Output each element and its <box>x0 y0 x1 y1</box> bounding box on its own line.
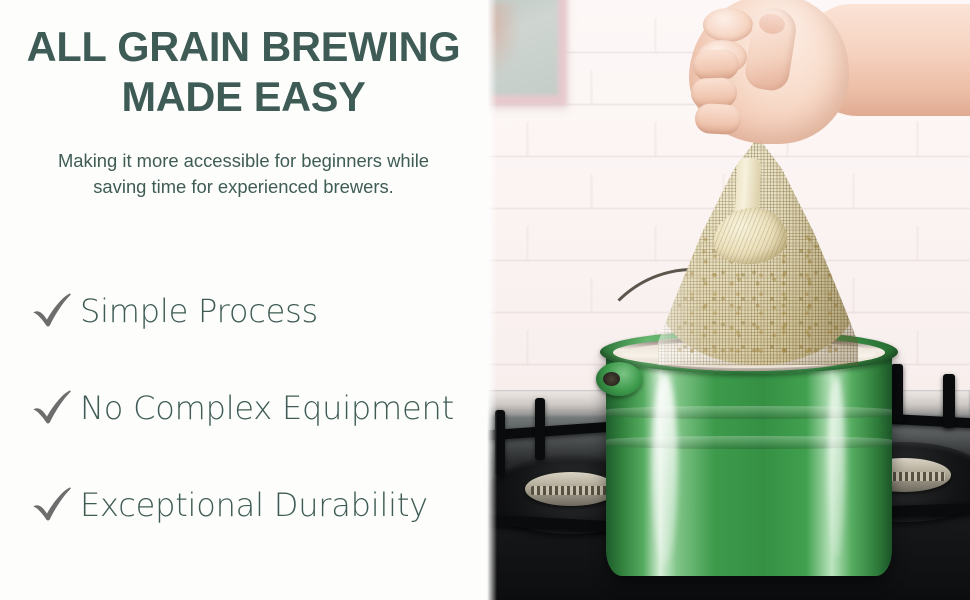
pot-lug-hole <box>603 372 620 386</box>
pot-highlight <box>828 376 845 558</box>
copy-panel: ALL GRAIN BREWING MADE EASY Making it mo… <box>0 0 487 600</box>
hand <box>677 0 970 182</box>
list-item: Exceptional Durability <box>0 456 487 553</box>
finger <box>694 103 742 135</box>
check-icon <box>30 386 74 430</box>
subheadline: Making it more accessible for beginners … <box>12 148 475 200</box>
feature-list: Simple Process No Complex Equipment Exce… <box>0 262 487 553</box>
product-photo <box>487 0 970 600</box>
mirror-glass <box>487 0 558 95</box>
list-item: Simple Process <box>0 262 487 359</box>
subheadline-line-1: Making it more accessible for beginners … <box>12 148 475 174</box>
grate-right-4 <box>943 374 955 428</box>
finger <box>692 48 740 81</box>
feature-label: No Complex Equipment <box>80 390 454 426</box>
green-enamel-pot <box>600 330 898 582</box>
product-feature-banner: ALL GRAIN BREWING MADE EASY Making it mo… <box>0 0 970 600</box>
list-item: No Complex Equipment <box>0 359 487 456</box>
page-title: ALL GRAIN BREWING MADE EASY <box>0 22 487 122</box>
pot-lug <box>596 362 642 396</box>
pot-band <box>606 436 892 449</box>
pot-body <box>606 348 892 576</box>
pot-highlight <box>652 374 678 564</box>
headline-line-2: MADE EASY <box>0 72 487 122</box>
subheadline-line-2: saving time for experienced brewers. <box>12 174 475 200</box>
check-icon <box>30 289 74 333</box>
feature-label: Exceptional Durability <box>80 487 428 523</box>
feature-label: Simple Process <box>80 293 318 329</box>
knuckle <box>703 8 753 42</box>
grate-left-3 <box>535 398 545 460</box>
photo-left-fade <box>487 0 497 600</box>
mirror-frame <box>487 0 567 106</box>
headline-line-1: ALL GRAIN BREWING <box>0 22 487 72</box>
check-icon <box>30 483 74 527</box>
pot-band <box>606 406 892 419</box>
thumb-nail <box>758 12 787 36</box>
photo-stage <box>487 0 970 600</box>
